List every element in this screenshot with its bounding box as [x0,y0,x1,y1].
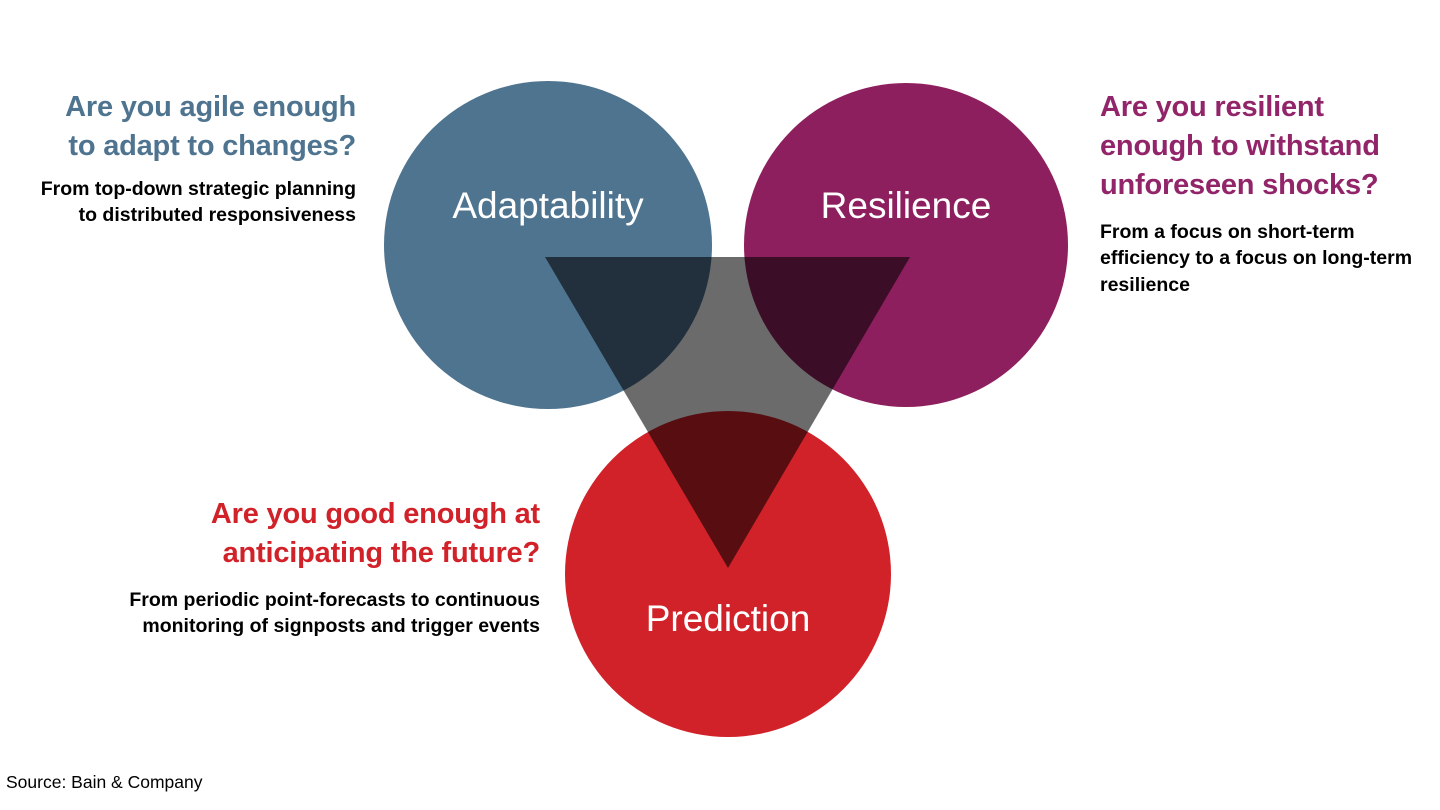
callout-prediction-body: From periodic point-forecasts to continu… [100,587,540,640]
source-note: Source: Bain & Company [6,772,203,793]
callout-adaptability-headline: Are you agile enough to adapt to changes… [36,88,356,166]
callout-adaptability: Are you agile enough to adapt to changes… [36,88,356,229]
slide-canvas: Adaptability Resilience Prediction Are y… [0,0,1440,810]
callout-adaptability-body: From top-down strategic planning to dist… [36,176,356,229]
circle-label-prediction: Prediction [646,598,811,639]
circle-label-resilience: Resilience [821,185,992,226]
callout-resilience-body: From a focus on short-term efficiency to… [1100,219,1420,299]
callout-prediction: Are you good enough at anticipating the … [100,495,540,640]
callout-prediction-headline: Are you good enough at anticipating the … [100,495,540,573]
circle-label-adaptability: Adaptability [452,185,644,226]
callout-resilience-headline: Are you resilient enough to withstand un… [1100,88,1420,205]
callout-resilience: Are you resilient enough to withstand un… [1100,88,1420,298]
